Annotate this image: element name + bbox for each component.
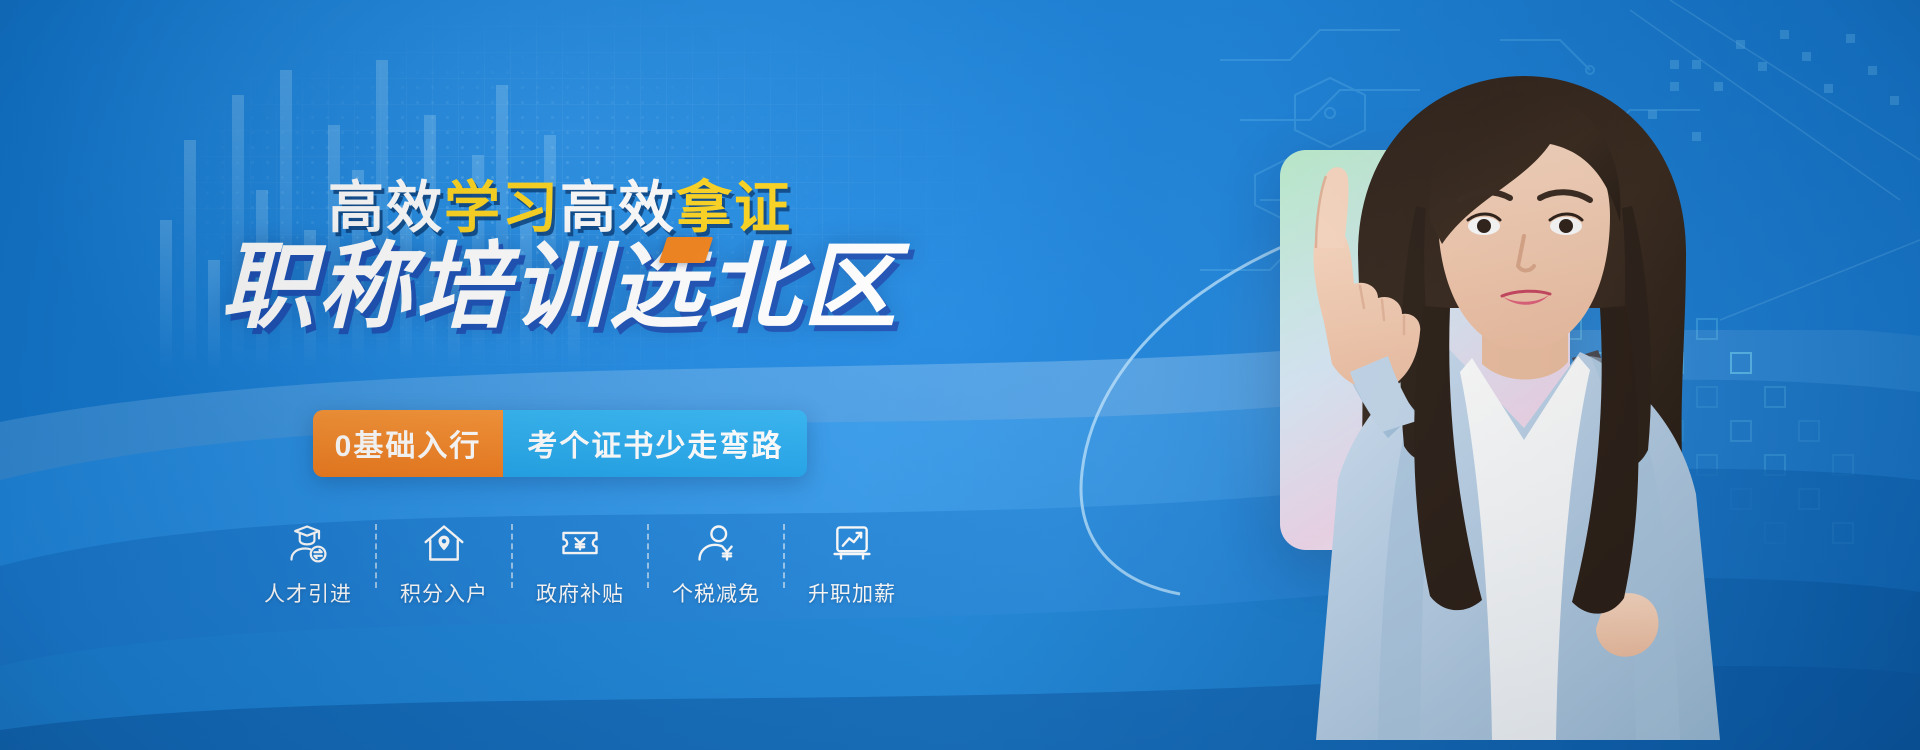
chart-board-icon — [830, 520, 874, 566]
voucher-yuan-icon — [558, 520, 602, 566]
feature-item-talent[interactable]: 人才引进 — [241, 520, 375, 608]
headline-seg-1: 高效 — [328, 176, 444, 239]
badge-row: 0基础入行 考个证书少走弯路 — [0, 410, 1120, 477]
orange-accent-slash — [659, 237, 713, 263]
feature-item-promotion[interactable]: 升职加薪 — [785, 520, 919, 608]
feature-label-residence: 积分入户 — [400, 578, 488, 608]
badge-certificate: 考个证书少走弯路 — [503, 410, 807, 477]
headline-primary: 高效学习高效拿证 — [0, 180, 1120, 236]
badge-zero-basis: 0基础入行 — [313, 410, 504, 477]
banner-content: 高效学习高效拿证 职称培训选北区 0基础入行 考个证书少走弯路 — [0, 0, 1120, 750]
feature-label-subsidy: 政府补贴 — [536, 578, 624, 608]
badge-group: 0基础入行 考个证书少走弯路 — [313, 410, 808, 477]
feature-item-tax[interactable]: 个税减免 — [649, 520, 783, 608]
feature-item-subsidy[interactable]: 政府补贴 — [513, 520, 647, 608]
feature-item-residence[interactable]: 积分入户 — [377, 520, 511, 608]
feature-row: 人才引进 积分入户 — [0, 520, 1120, 608]
feature-label-promotion: 升职加薪 — [808, 578, 896, 608]
feature-label-tax: 个税减免 — [672, 578, 760, 608]
feature-label-talent: 人才引进 — [264, 578, 352, 608]
hero-visual — [1120, 0, 1920, 750]
graduate-talent-icon — [286, 520, 330, 566]
headline-seg-3: 高效 — [560, 176, 676, 239]
promo-banner: 高效学习高效拿证 职称培训选北区 0基础入行 考个证书少走弯路 — [0, 0, 1920, 750]
headline-seg-4: 拿证 — [676, 176, 792, 239]
pointing-woman-photo — [1120, 40, 1920, 740]
person-yuan-icon — [694, 520, 738, 566]
headline-main: 职称培训选北区 — [0, 240, 1120, 334]
house-pin-icon — [422, 520, 466, 566]
headline-seg-2: 学习 — [444, 176, 560, 239]
